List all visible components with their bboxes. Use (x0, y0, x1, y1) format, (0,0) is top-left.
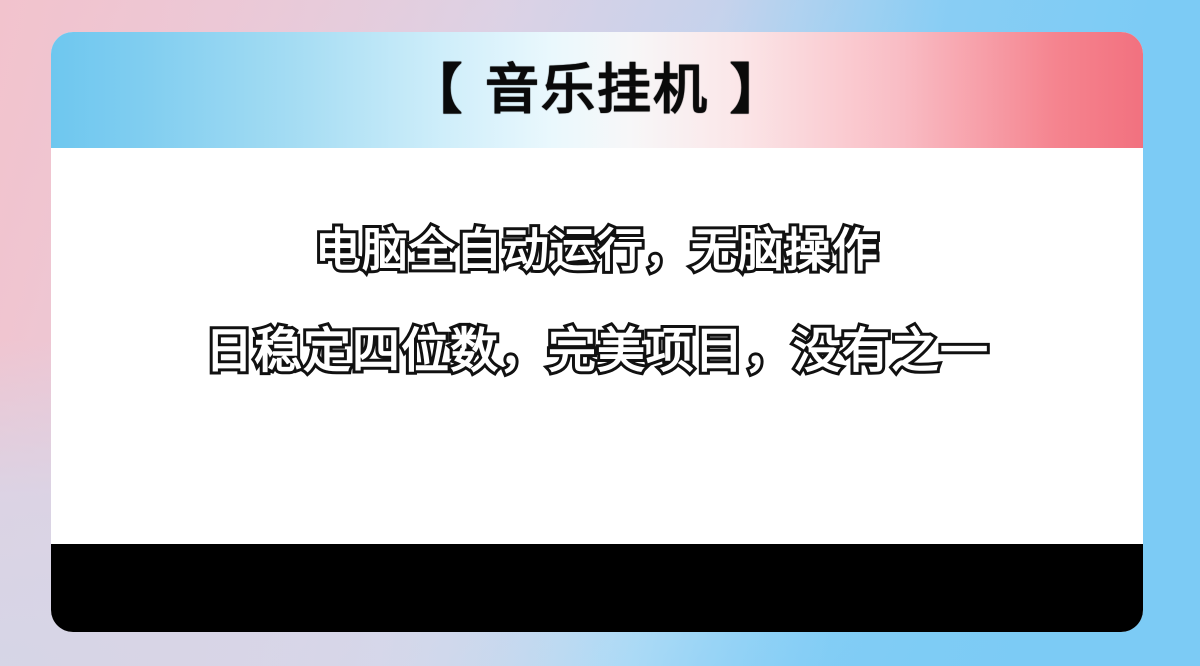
headline-line-2: 日稳定四位数，完美项目，没有之一 (205, 326, 989, 376)
card-footer-bar (51, 544, 1143, 632)
page-title: 【 音乐挂机 】 (408, 63, 786, 117)
card-header-banner: 【 音乐挂机 】 (51, 32, 1143, 148)
card-body: 电脑全自动运行，无脑操作 日稳定四位数，完美项目，没有之一 (51, 148, 1143, 544)
poster-canvas: 【 音乐挂机 】 电脑全自动运行，无脑操作 日稳定四位数，完美项目，没有之一 (0, 0, 1200, 666)
poster-card: 【 音乐挂机 】 电脑全自动运行，无脑操作 日稳定四位数，完美项目，没有之一 (51, 32, 1143, 632)
headline-line-1: 电脑全自动运行，无脑操作 (315, 226, 879, 274)
